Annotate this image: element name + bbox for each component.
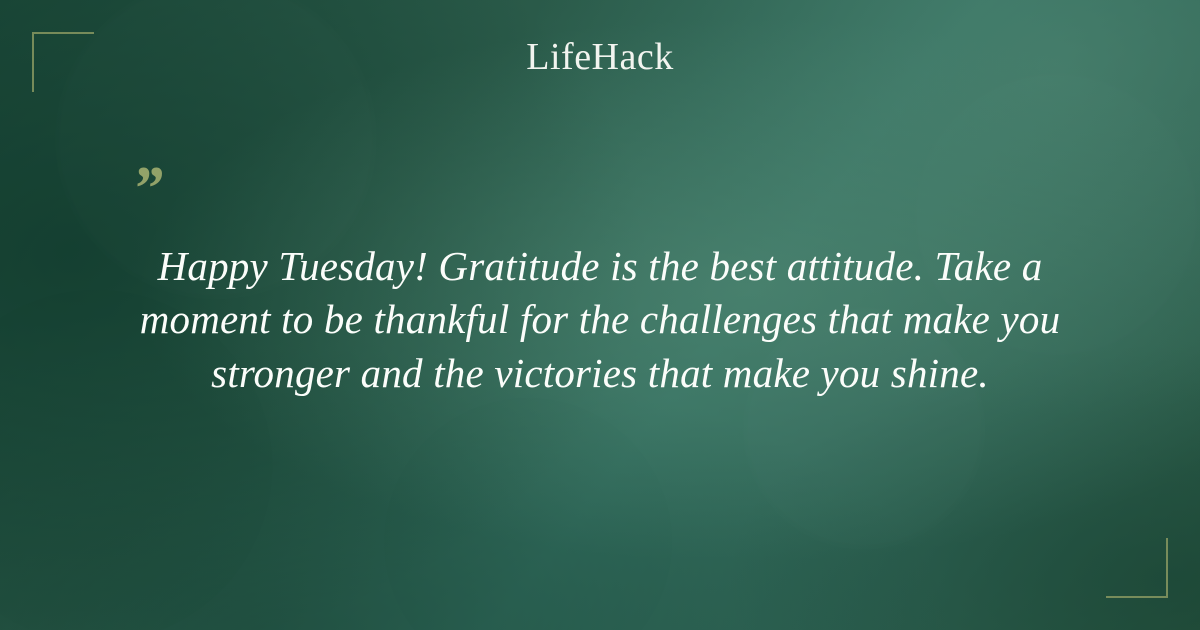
quote-block: ” Happy Tuesday! Gratitude is the best a… [110,168,1090,400]
corner-bracket-bottom-right-icon [1106,538,1168,598]
quote-card: LifeHack ” Happy Tuesday! Gratitude is t… [0,0,1200,630]
quotation-mark-icon: ” [132,168,1090,216]
brand-logo-text: LifeHack [526,38,673,76]
quote-text: Happy Tuesday! Gratitude is the best att… [110,240,1090,400]
brand-logo: LifeHack [0,38,1200,76]
